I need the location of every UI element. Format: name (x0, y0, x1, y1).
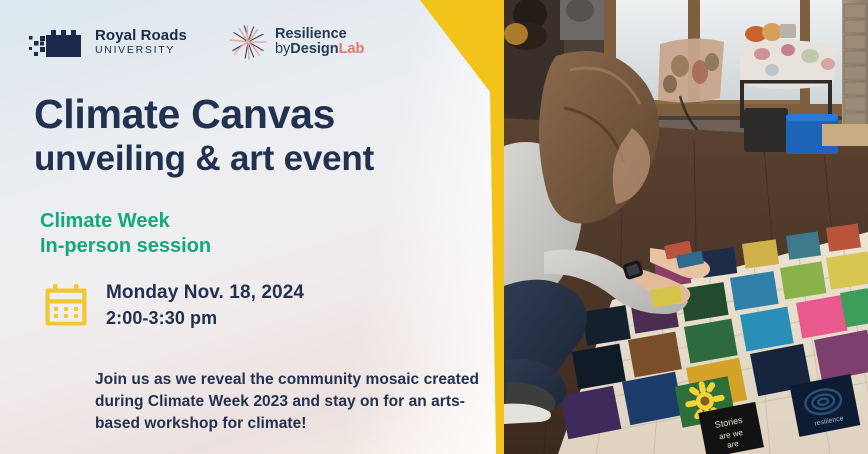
royal-roads-university-logo: Royal Roads UNIVERSITY (28, 27, 187, 57)
royal-roads-subtitle: UNIVERSITY (95, 45, 187, 56)
calendar-icon (42, 281, 90, 329)
headline-line-1: Climate Canvas (34, 93, 374, 136)
subtitle-line-1: Climate Week (40, 209, 211, 234)
event-date: Monday Nov. 18, 2024 (106, 281, 304, 305)
subtitle-line-2: In-person session (40, 234, 211, 259)
event-poster: Royal Roads UNIVERSITY (0, 0, 868, 454)
royal-roads-castle-mark-icon (28, 27, 86, 57)
resilience-flower-mark-icon (229, 24, 267, 60)
resilience-design: Design (290, 41, 338, 57)
resilience-by: by (275, 41, 290, 57)
event-subtitle: Climate Week In-person session (40, 209, 211, 259)
logo-row: Royal Roads UNIVERSITY (28, 24, 364, 60)
resilience-by-design-lab-logo: Resilience byDesignLab (229, 24, 364, 60)
photo-illustration: Stories are we are resilience (504, 0, 868, 454)
resilience-line2: byDesignLab (275, 42, 364, 57)
page-title: Climate Canvas unveiling & art event (34, 93, 374, 179)
event-description: Join us as we reveal the community mosai… (95, 369, 490, 435)
event-time: 2:00-3:30 pm (106, 307, 304, 330)
event-date-text: Monday Nov. 18, 2024 2:00-3:30 pm (106, 281, 304, 329)
royal-roads-wordmark: Royal Roads UNIVERSITY (95, 28, 187, 56)
resilience-wordmark: Resilience byDesignLab (275, 27, 364, 57)
event-photo: Stories are we are resilience (504, 0, 868, 454)
royal-roads-name: Royal Roads (95, 28, 187, 43)
event-date-block: Monday Nov. 18, 2024 2:00-3:30 pm (42, 281, 304, 329)
headline-line-2: unveiling & art event (34, 140, 374, 179)
resilience-lab: Lab (339, 41, 365, 57)
resilience-line1: Resilience (275, 27, 364, 42)
